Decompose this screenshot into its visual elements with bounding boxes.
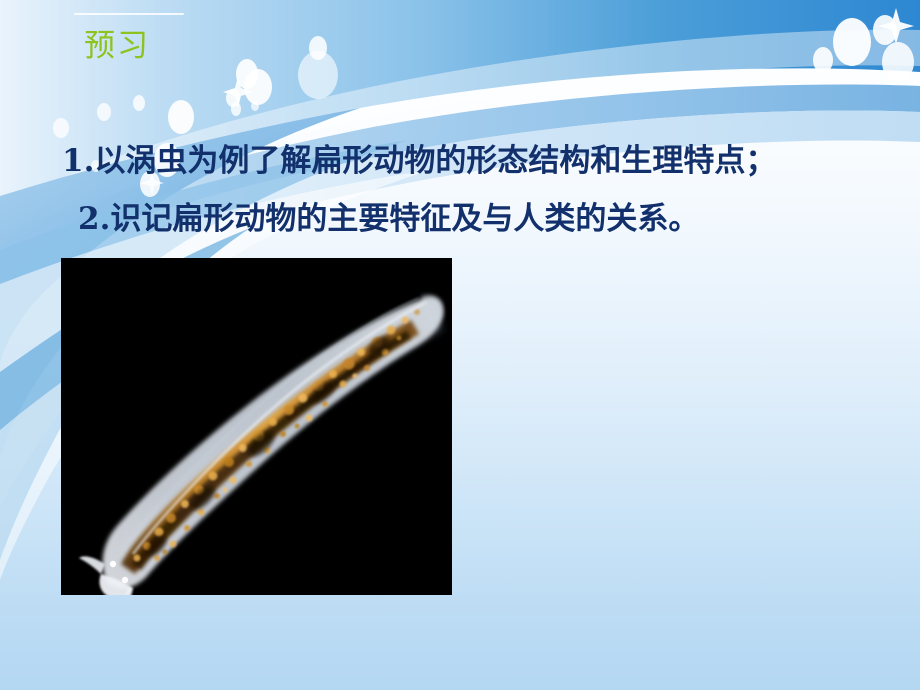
bullet-item-2: 2.识记扁形动物的主要特征及与人类的关系。 — [0, 190, 920, 248]
presentation-slide: 预习 1.以涡虫为例了解扁形动物的形态结构和生理特点； 2.识记扁形动物的主要特… — [0, 0, 920, 690]
bullet-item-1: 1.以涡虫为例了解扁形动物的形态结构和生理特点； — [0, 132, 920, 190]
planarian-photo — [61, 258, 452, 595]
title-underline-rule — [74, 13, 184, 15]
page-title: 预习 — [84, 30, 150, 63]
bullet-list: 1.以涡虫为例了解扁形动物的形态结构和生理特点； 2.识记扁形动物的主要特征及与… — [0, 132, 920, 248]
